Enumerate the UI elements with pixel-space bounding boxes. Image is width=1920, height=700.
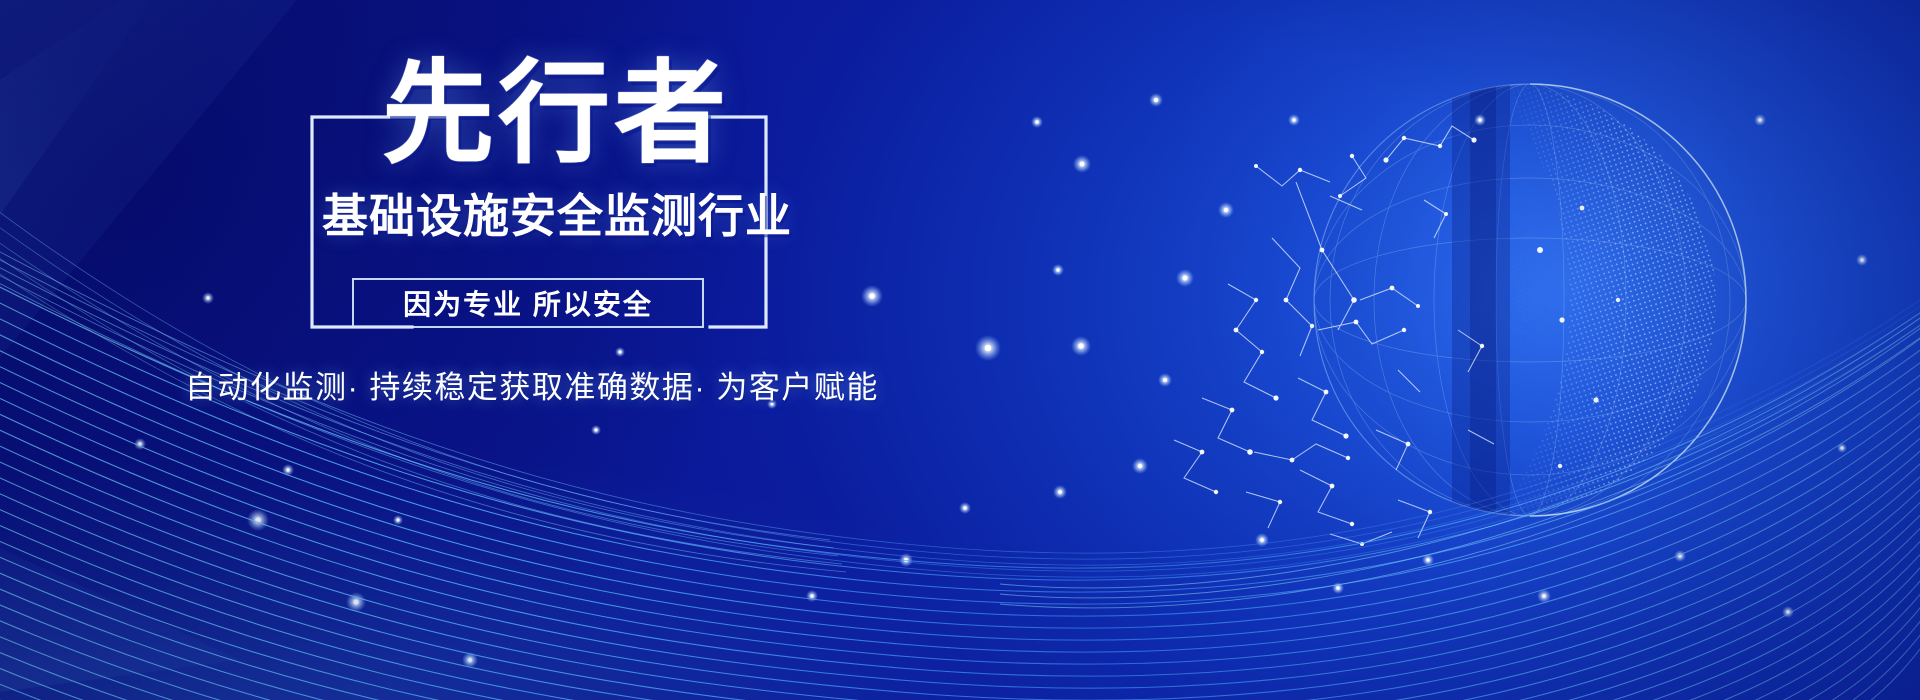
tagline-box: 因为专业 所以安全 xyxy=(352,278,704,328)
lead-statement: 自动化监测· 持续稳定获取准确数据· 为客户赋能 xyxy=(185,372,879,403)
banner-root: 先行者 基础设施安全监测行业 因为专业 所以安全 自动化监测· 持续稳定获取准确… xyxy=(0,0,1920,700)
page-subtitle: 基础设施安全监测行业 xyxy=(322,193,792,239)
page-title: 先行者 xyxy=(382,58,730,170)
headline-block: 先行者 基础设施安全监测行业 因为专业 所以安全 自动化监测· 持续稳定获取准确… xyxy=(0,0,1920,700)
tagline-text: 因为专业 所以安全 xyxy=(354,280,702,326)
